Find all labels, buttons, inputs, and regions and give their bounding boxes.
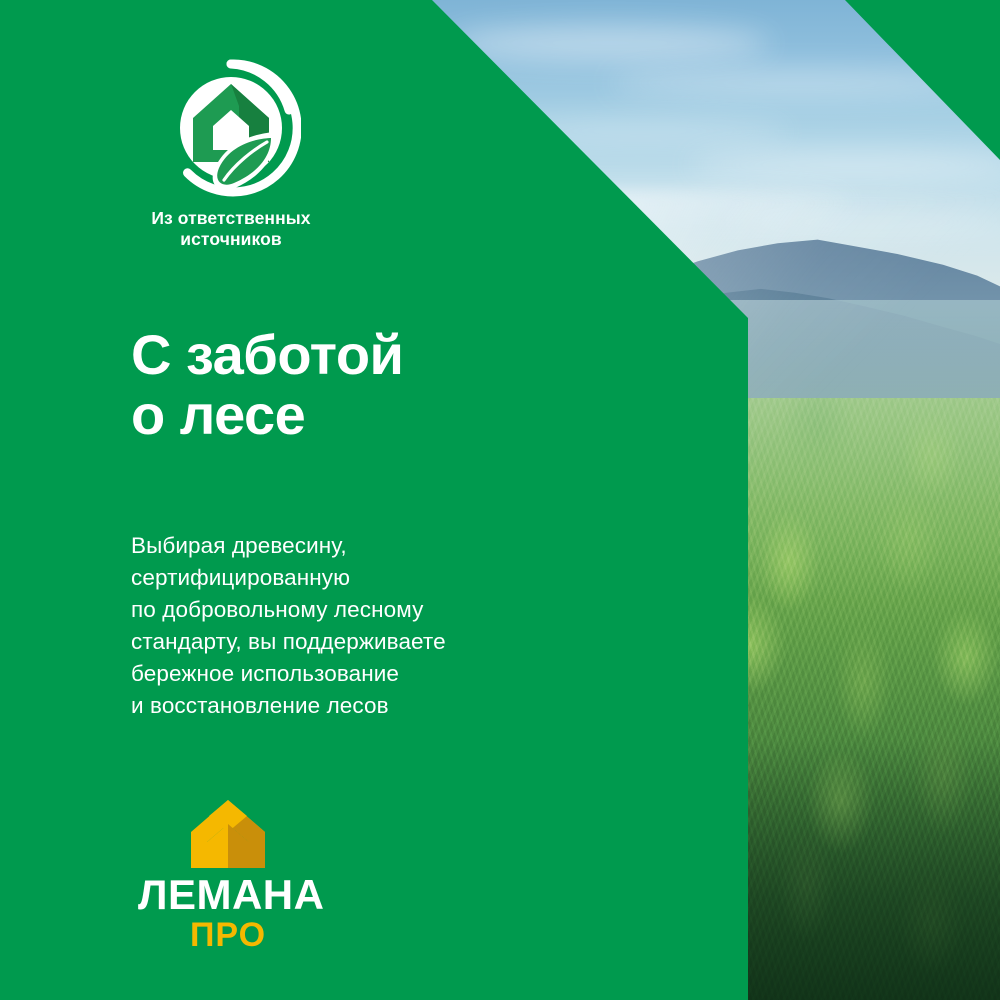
lemana-pro-suffix: ПРО <box>138 918 318 954</box>
lemana-pro-logo: ЛЕМАНА ПРО <box>138 798 318 954</box>
house-leaf-circle-logo-icon <box>161 58 301 198</box>
body-paragraph: Выбирая древесину, сертифицированную по … <box>131 530 446 722</box>
eco-badge-caption: Из ответственных источников <box>131 208 331 250</box>
lemana-wordmark: ЛЕМАНА <box>138 874 318 916</box>
page-title: С заботой о лесе <box>131 325 403 445</box>
poster-content: Из ответственных источников С заботой о … <box>0 0 748 1000</box>
eco-certification-badge: Из ответственных источников <box>131 58 331 250</box>
cloud-wisp <box>730 210 1000 234</box>
lemana-house-icon <box>189 798 267 870</box>
eco-promo-poster: Из ответственных источников С заботой о … <box>0 0 1000 1000</box>
